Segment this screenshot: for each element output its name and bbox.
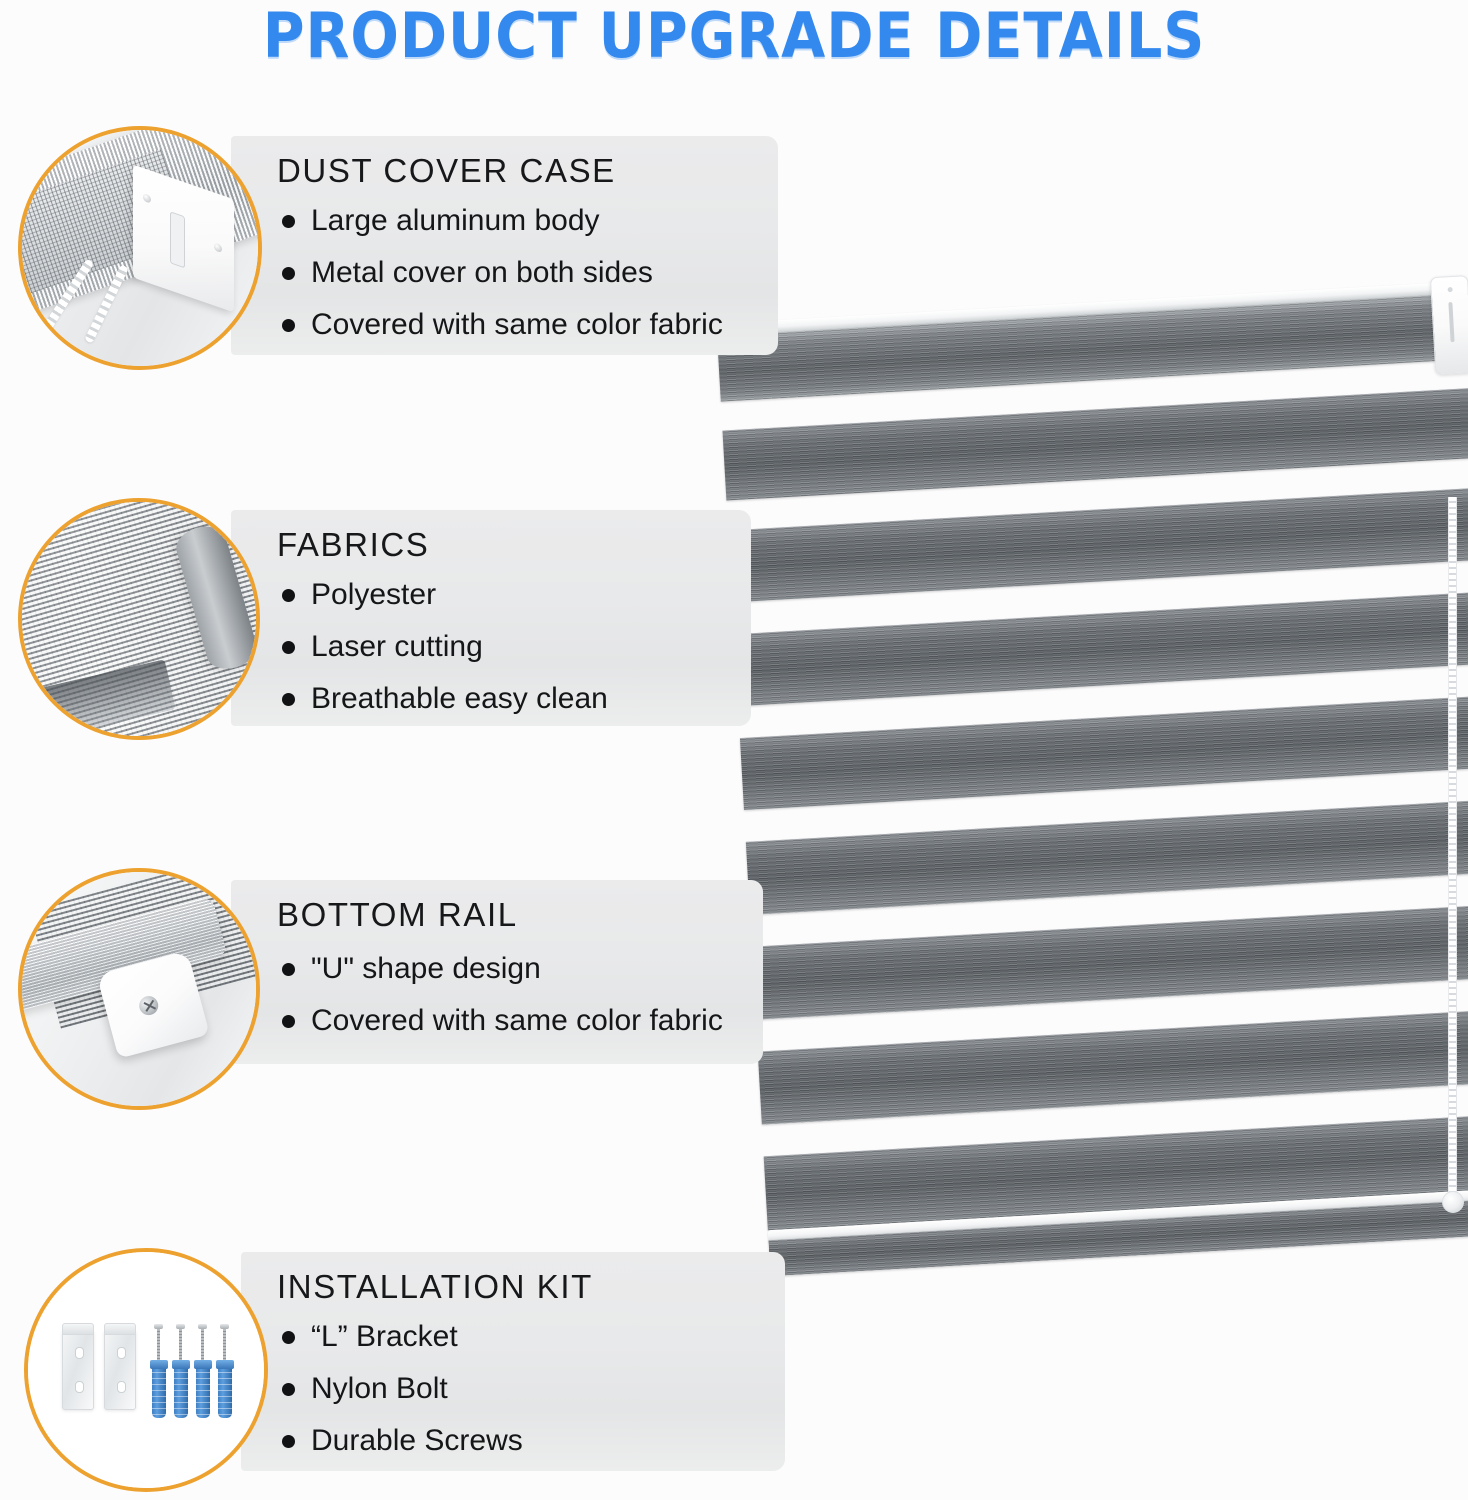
list-item: Nylon Bolt xyxy=(277,1372,523,1406)
anchor-ribs xyxy=(152,1372,166,1418)
nylon-anchor-icon xyxy=(218,1360,232,1418)
feature-bullet-list: Large aluminum body Metal cover on both … xyxy=(277,204,723,342)
screw-icon xyxy=(137,994,160,1017)
l-bracket-icon xyxy=(104,1330,136,1410)
bullet-icon xyxy=(282,589,295,602)
feature-bullet-list: “L” Bracket Nylon Bolt Durable Screws xyxy=(277,1320,523,1458)
feature-panel-fabrics: FABRICS Polyester Laser cutting Breathab… xyxy=(231,510,751,726)
bullet-text: Covered with same color fabric xyxy=(311,308,723,341)
list-item: Large aluminum body xyxy=(277,204,723,238)
anchor-collar xyxy=(172,1360,190,1369)
list-item: Covered with same color fabric xyxy=(277,1004,723,1038)
nylon-anchor-icon xyxy=(152,1360,166,1418)
list-item: “L” Bracket xyxy=(277,1320,523,1354)
bullet-icon xyxy=(282,693,295,706)
bullet-text: Breathable easy clean xyxy=(311,682,608,715)
keyhole-slot xyxy=(169,211,184,268)
list-item: Durable Screws xyxy=(277,1424,523,1458)
feature-photo-fabrics xyxy=(18,498,260,740)
anchor-collar xyxy=(216,1360,234,1369)
bullet-text: Polyester xyxy=(311,578,436,611)
bracket-hole xyxy=(75,1381,84,1393)
blind-fabric-band xyxy=(734,591,1468,706)
dust-cover-case-photo xyxy=(22,130,258,366)
bullet-text: Laser cutting xyxy=(311,630,483,663)
feature-photo-installation-kit xyxy=(24,1248,268,1492)
bracket-lip xyxy=(62,1323,94,1335)
anchor-ribs xyxy=(174,1372,188,1418)
bullet-text: Covered with same color fabric xyxy=(311,1004,723,1037)
blind-bead-chain[interactable] xyxy=(1448,497,1457,1197)
feature-bullet-list: "U" shape design Covered with same color… xyxy=(277,952,723,1038)
feature-photo-dust-cover-case xyxy=(18,126,262,370)
bullet-text: Nylon Bolt xyxy=(311,1372,448,1405)
bracket-lip xyxy=(104,1323,136,1335)
blind-body xyxy=(713,225,1468,1276)
anchor-collar xyxy=(150,1360,168,1369)
bullet-text: Durable Screws xyxy=(311,1424,523,1457)
bracket-hole xyxy=(75,1347,84,1359)
blind-end-cap xyxy=(1430,275,1468,375)
nylon-anchor-icon xyxy=(174,1360,188,1418)
page-title: PRODUCT UPGRADE DETAILS xyxy=(59,4,1410,68)
chain-tensioner[interactable] xyxy=(1442,1191,1464,1213)
bullet-icon xyxy=(282,319,295,332)
anchor-collar xyxy=(194,1360,212,1369)
bullet-icon xyxy=(282,1331,295,1344)
end-cap-screw-dot xyxy=(1447,287,1452,292)
feature-photo-bottom-rail xyxy=(18,868,260,1110)
bullet-icon xyxy=(282,1383,295,1396)
installation-kit-photo xyxy=(28,1252,264,1488)
bullet-text: “L” Bracket xyxy=(311,1320,458,1353)
bullet-icon xyxy=(282,963,295,976)
bullet-icon xyxy=(282,641,295,654)
list-item: Covered with same color fabric xyxy=(277,308,723,342)
feature-heading: FABRICS xyxy=(277,526,429,564)
feature-panel-bottom-rail: BOTTOM RAIL "U" shape design Covered wit… xyxy=(231,880,763,1064)
bracket-hole xyxy=(117,1347,126,1359)
screw-icon xyxy=(214,242,222,253)
bullet-icon xyxy=(282,1435,295,1448)
feature-bullet-list: Polyester Laser cutting Breathable easy … xyxy=(277,578,608,716)
list-item: Laser cutting xyxy=(277,630,608,664)
feature-panel-dust-cover-case: DUST COVER CASE Large aluminum body Meta… xyxy=(231,136,778,355)
screw-icon xyxy=(143,193,151,204)
anchor-ribs xyxy=(218,1372,232,1418)
blind-fabric-band xyxy=(728,488,1468,603)
end-cap-slot xyxy=(1448,302,1454,342)
bracket-hole xyxy=(117,1381,126,1393)
feature-heading: INSTALLATION KIT xyxy=(277,1268,593,1306)
bullet-text: "U" shape design xyxy=(311,952,541,985)
feature-heading: DUST COVER CASE xyxy=(277,152,616,190)
bullet-text: Metal cover on both sides xyxy=(311,256,653,289)
blind-fabric-band xyxy=(746,799,1468,915)
blind-fabric-band xyxy=(752,904,1468,1020)
blind-fabric-band xyxy=(740,695,1468,810)
blind-fabric-band xyxy=(758,1009,1468,1125)
infographic-canvas: PRODUCT UPGRADE DETAILS DUST COVER CAS xyxy=(0,0,1468,1500)
l-bracket-icon xyxy=(62,1330,94,1410)
list-item: "U" shape design xyxy=(277,952,723,986)
list-item: Breathable easy clean xyxy=(277,682,608,716)
bullet-text: Large aluminum body xyxy=(311,204,600,237)
bullet-icon xyxy=(282,1015,295,1028)
anchor-ribs xyxy=(196,1372,210,1418)
bullet-icon xyxy=(282,215,295,228)
feature-panel-installation-kit: INSTALLATION KIT “L” Bracket Nylon Bolt … xyxy=(241,1252,785,1471)
product-image-zebra-blind xyxy=(712,225,1468,1295)
bullet-icon xyxy=(282,267,295,280)
list-item: Polyester xyxy=(277,578,608,612)
feature-heading: BOTTOM RAIL xyxy=(277,896,518,934)
bottom-rail-photo xyxy=(22,872,256,1106)
nylon-anchor-icon xyxy=(196,1360,210,1418)
blind-fabric-band xyxy=(722,388,1468,501)
list-item: Metal cover on both sides xyxy=(277,256,723,290)
fabric-photo xyxy=(22,502,256,736)
